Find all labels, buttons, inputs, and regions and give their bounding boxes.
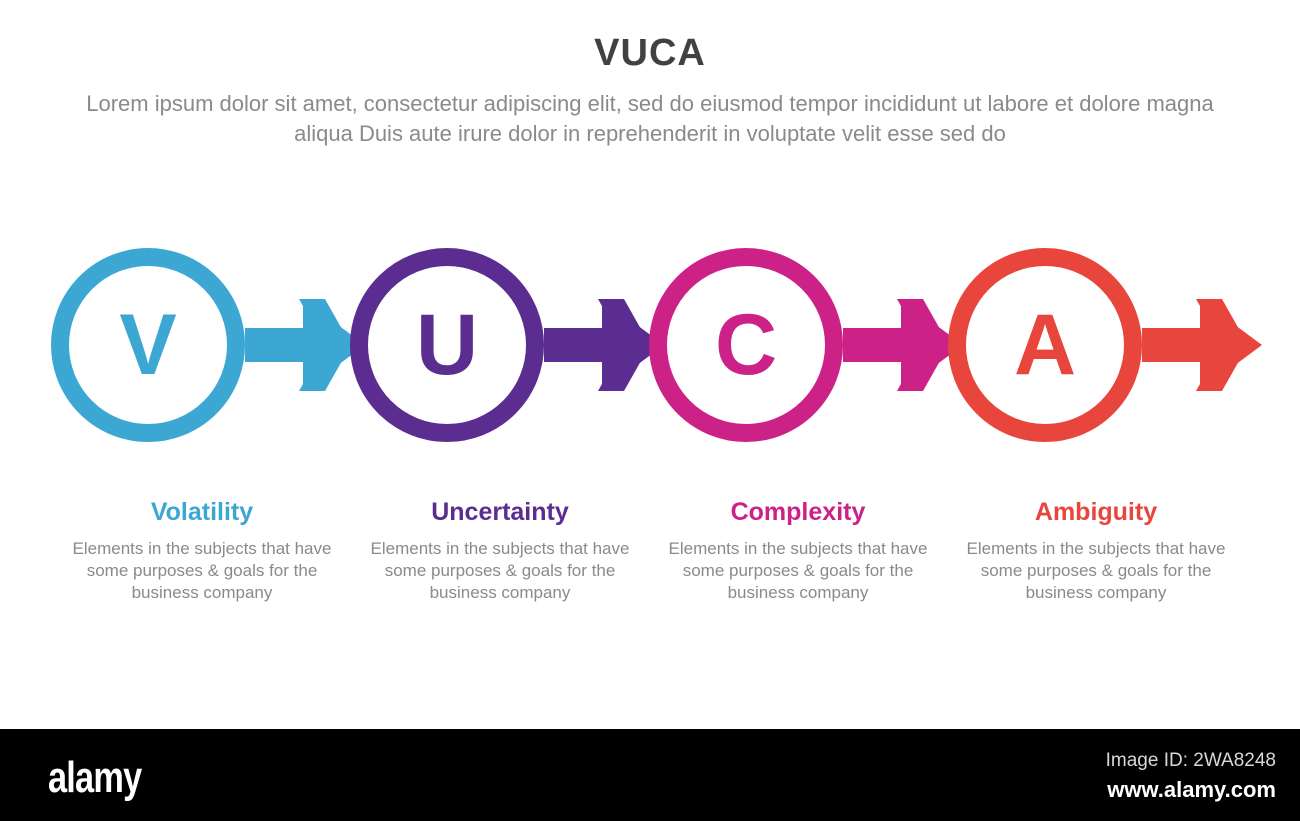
- vuca-step-circle-a[interactable]: A: [957, 257, 1133, 433]
- caption-item-complexity: Complexity Elements in the subjects that…: [649, 498, 947, 604]
- caption-title: Ambiguity: [947, 498, 1245, 527]
- caption-item-ambiguity: Ambiguity Elements in the subjects that …: [947, 498, 1245, 604]
- image-id-label: Image ID: 2WA8248: [976, 750, 1276, 772]
- caption-title: Uncertainty: [351, 498, 649, 527]
- caption-description: Elements in the subjects that have some …: [649, 527, 947, 604]
- caption-description: Elements in the subjects that have some …: [947, 527, 1245, 604]
- caption-row: Volatility Elements in the subjects that…: [0, 498, 1300, 604]
- circle-letter: C: [715, 297, 777, 393]
- caption-item-volatility: Volatility Elements in the subjects that…: [53, 498, 351, 604]
- page-subtitle: Lorem ipsum dolor sit amet, consectetur …: [60, 75, 1240, 149]
- caption-title: Volatility: [53, 498, 351, 527]
- watermark-bar: alamy Image ID: 2WA8248 www.alamy.com: [0, 729, 1300, 821]
- caption-title: Complexity: [649, 498, 947, 527]
- caption-description: Elements in the subjects that have some …: [351, 527, 649, 604]
- vuca-diagram: VUCA: [0, 205, 1300, 495]
- vuca-step-circle-c[interactable]: C: [658, 257, 834, 433]
- header: VUCA Lorem ipsum dolor sit amet, consect…: [0, 0, 1300, 149]
- vuca-diagram-svg: VUCA: [0, 205, 1300, 495]
- circle-letter: A: [1014, 297, 1076, 393]
- page-title: VUCA: [0, 0, 1300, 75]
- vuca-step-circle-v[interactable]: V: [60, 257, 236, 433]
- circle-letter: U: [416, 297, 478, 393]
- caption-description: Elements in the subjects that have some …: [53, 527, 351, 604]
- circle-letter: V: [119, 297, 176, 393]
- alamy-url-label: www.alamy.com: [976, 777, 1276, 803]
- alamy-logo: alamy: [48, 753, 141, 803]
- caption-item-uncertainty: Uncertainty Elements in the subjects tha…: [351, 498, 649, 604]
- vuca-step-circle-u[interactable]: U: [359, 257, 535, 433]
